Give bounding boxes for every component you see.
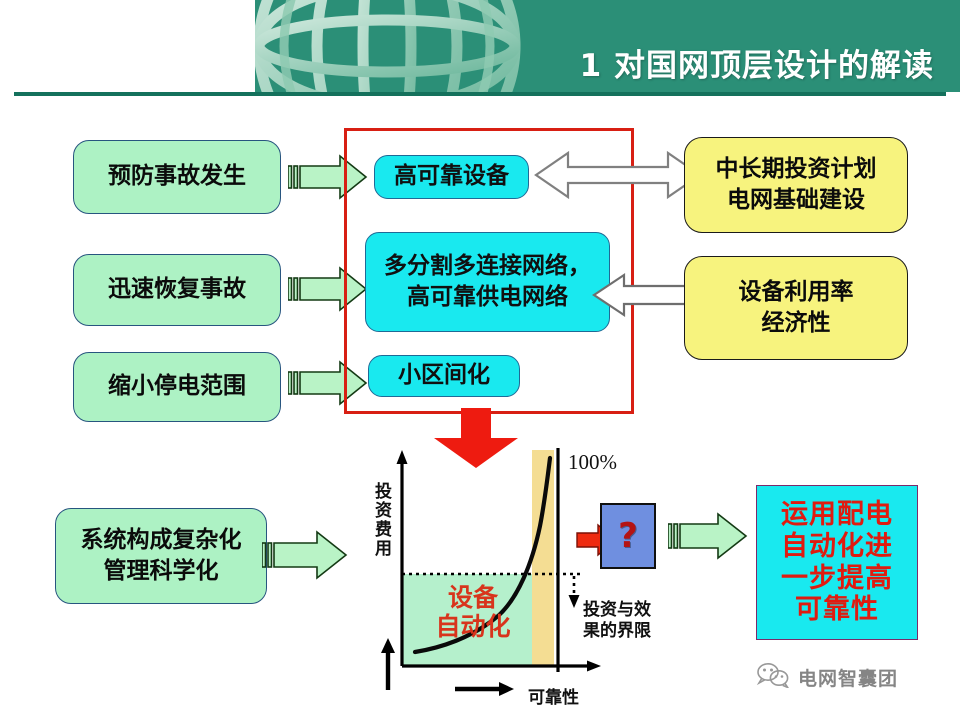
chart-region-100pct-band xyxy=(532,450,554,666)
bottom-left-line-2: 管理科学化 xyxy=(104,556,219,587)
watermark-text: 电网智囊团 xyxy=(798,664,898,691)
page-title: 1 对国网顶层设计的解读 xyxy=(580,40,934,85)
center-box-high-reliability-equipment[interactable]: 高可靠设备 xyxy=(374,155,529,199)
green-arrow-icon-4 xyxy=(262,528,348,582)
double-headed-arrow-icon xyxy=(534,146,702,204)
bottom-left-line-1: 系统构成复杂化 xyxy=(81,525,242,556)
chart-region-label: 设备 自动化 xyxy=(418,584,528,642)
right-box-2-line-2: 经济性 xyxy=(762,308,831,339)
chart-region-label-line1: 设备 xyxy=(418,584,528,613)
center-box-multi-segment-network[interactable]: 多分割多连接网络， 高可靠供电网络 xyxy=(365,232,610,332)
header-divider xyxy=(14,92,946,96)
result-line-4: 可靠性 xyxy=(795,594,879,626)
threshold-line-2: 果的界限 xyxy=(583,621,683,642)
wechat-icon xyxy=(756,662,790,692)
chart-x-axis-label: 可靠性 xyxy=(528,688,579,709)
chart-region-label-line2: 自动化 xyxy=(418,613,528,642)
left-box-prevent-accidents[interactable]: 预防事故发生 xyxy=(73,140,281,214)
right-box-1-line-1: 中长期投资计划 xyxy=(716,154,877,185)
green-arrow-icon-5 xyxy=(668,510,748,562)
chart-100pct-label: 100% xyxy=(568,450,617,475)
bottom-left-box-system-complexity[interactable]: 系统构成复杂化 管理科学化 xyxy=(55,508,267,604)
right-box-investment-plan[interactable]: 中长期投资计划 电网基础建设 xyxy=(684,137,908,233)
slide-root: 1 对国网顶层设计的解读 预防事故发生 迅速恢复事故 缩小停电范围 xyxy=(0,0,960,720)
center-box-line-2: 高可靠供电网络 xyxy=(407,282,568,313)
investment-reliability-chart xyxy=(380,440,630,705)
center-box-district-partitioning[interactable]: 小区间化 xyxy=(368,355,520,397)
question-mark-box[interactable]: ? xyxy=(600,503,656,569)
right-box-1-line-2: 电网基础建设 xyxy=(727,185,865,216)
threshold-line-1: 投资与效 xyxy=(583,600,683,621)
result-line-3: 一步提高 xyxy=(781,563,893,595)
left-box-reduce-outage[interactable]: 缩小停电范围 xyxy=(73,352,281,422)
slide-header: 1 对国网顶层设计的解读 xyxy=(0,0,960,96)
right-box-utilization-economics[interactable]: 设备利用率 经济性 xyxy=(684,256,908,360)
left-box-rapid-recovery[interactable]: 迅速恢复事故 xyxy=(73,254,281,326)
result-line-1: 运用配电 xyxy=(781,499,893,531)
center-box-line-1: 多分割多连接网络， xyxy=(384,251,591,282)
right-box-2-line-1: 设备利用率 xyxy=(739,277,854,308)
chart-y-axis-label: 投资费用 xyxy=(372,482,389,578)
watermark: 电网智囊团 xyxy=(756,662,898,692)
chart-threshold-callout: 投资与效 果的界限 xyxy=(583,600,683,643)
result-line-2: 自动化进 xyxy=(781,531,893,563)
result-box[interactable]: 运用配电 自动化进 一步提高 可靠性 xyxy=(756,485,918,640)
